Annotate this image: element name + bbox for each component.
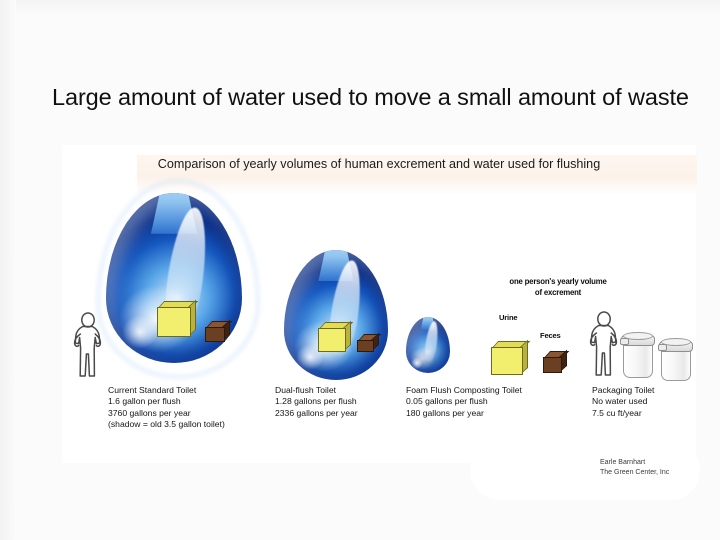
feces-label: Feces: [540, 331, 561, 340]
cube-front-face: [357, 340, 374, 352]
bucket-body: [623, 341, 653, 378]
feces-cube-standard: [205, 321, 223, 340]
packaging-bucket-1: [621, 332, 653, 377]
diagram-subtitle: Comparison of yearly volumes of human ex…: [62, 157, 696, 171]
cube-front-face: [543, 357, 562, 373]
diagram-image: Comparison of yearly volumes of human ex…: [62, 145, 696, 463]
water-drop-foam-flush: [406, 317, 450, 373]
urine-cube-dual-flush: [318, 322, 344, 350]
urine-label: Urine: [499, 313, 517, 322]
packaging-bucket-2: [659, 338, 691, 380]
caption-standard-toilet: Current Standard Toilet 1.6 gallon per f…: [108, 385, 293, 431]
urine-cube-standard: [157, 301, 189, 335]
cube-front-face: [491, 347, 523, 375]
slide-left-edge: [0, 0, 16, 540]
cube-front-face: [205, 327, 225, 342]
drop-glow: [411, 357, 422, 368]
slide-canvas: Large amount of water used to move a sma…: [0, 0, 720, 540]
bucket-clip: [658, 344, 667, 351]
water-drop-dual-flush: [284, 250, 388, 380]
feces-cube-reference: [543, 351, 560, 371]
bucket-clip: [620, 338, 629, 345]
urine-cube-reference: [491, 341, 521, 373]
cube-front-face: [157, 307, 191, 337]
slide-top-edge: [0, 0, 720, 14]
credit-text: Earle Barnhart The Green Center, Inc: [600, 458, 669, 477]
bucket-body: [661, 347, 691, 381]
page-title: Large amount of water used to move a sma…: [52, 84, 692, 111]
person-figure-right: [586, 311, 622, 379]
caption-packaging-toilet: Packaging Toilet No water used 7.5 cu ft…: [592, 385, 720, 419]
drop-highlight: [423, 321, 440, 364]
drop-outer-halo: [96, 179, 260, 379]
caption-foam-flush-toilet: Foam Flush Composting Toilet 0.05 gallon…: [406, 385, 591, 419]
feces-cube-dual-flush: [357, 334, 372, 350]
cube-front-face: [318, 328, 346, 352]
excrement-volume-label: one person's yearly volume of excrement: [483, 276, 633, 298]
